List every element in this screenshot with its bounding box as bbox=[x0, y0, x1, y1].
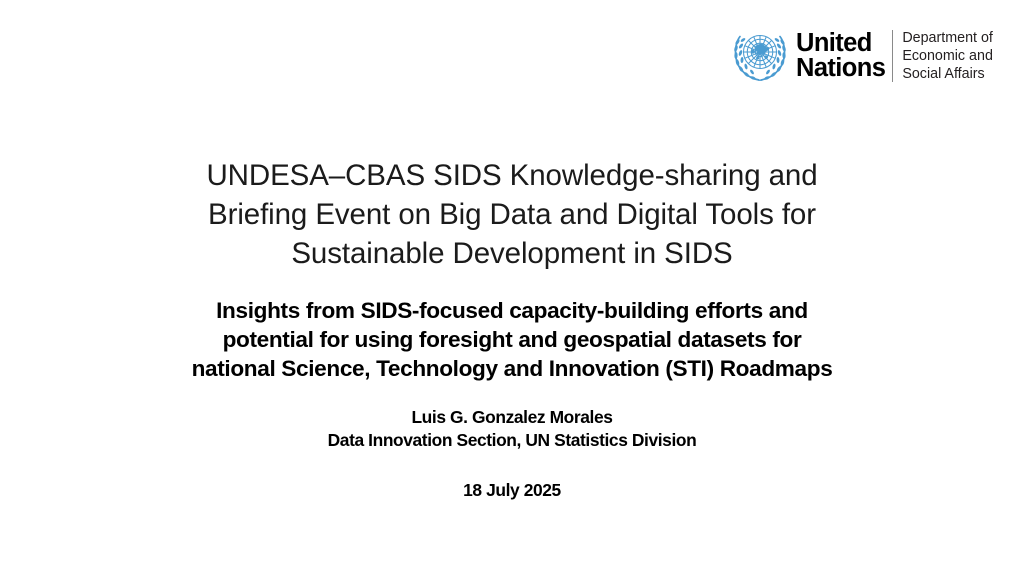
presenter-block: Luis G. Gonzalez Morales Data Innovation… bbox=[162, 406, 862, 502]
event-subtitle-line-3: national Science, Technology and Innovat… bbox=[92, 354, 932, 383]
event-title: UNDESA–CBAS SIDS Knowledge-sharing and B… bbox=[112, 156, 912, 274]
department-line-2: Economic and bbox=[902, 47, 993, 65]
logo-divider bbox=[892, 30, 893, 82]
title-slide: United Nations Department of Economic an… bbox=[0, 0, 1024, 576]
event-subtitle: Insights from SIDS-focused capacity-buil… bbox=[92, 296, 932, 384]
event-subtitle-line-2: potential for using foresight and geospa… bbox=[92, 325, 932, 354]
department-line-3: Social Affairs bbox=[902, 65, 993, 83]
presenter-name: Luis G. Gonzalez Morales bbox=[162, 406, 862, 429]
un-emblem-icon bbox=[730, 28, 790, 85]
event-title-line-2: Briefing Event on Big Data and Digital T… bbox=[112, 195, 912, 234]
un-wordmark: United Nations bbox=[796, 31, 885, 81]
event-title-line-3: Sustainable Development in SIDS bbox=[112, 234, 912, 273]
un-desa-logo-lockup: United Nations Department of Economic an… bbox=[730, 26, 993, 86]
department-line-1: Department of bbox=[902, 29, 993, 47]
un-wordmark-line-1: United bbox=[796, 31, 885, 56]
department-name: Department of Economic and Social Affair… bbox=[902, 29, 993, 84]
un-wordmark-line-2: Nations bbox=[796, 56, 885, 81]
event-subtitle-line-1: Insights from SIDS-focused capacity-buil… bbox=[92, 296, 932, 325]
event-title-line-1: UNDESA–CBAS SIDS Knowledge-sharing and bbox=[112, 156, 912, 195]
presenter-affiliation: Data Innovation Section, UN Statistics D… bbox=[162, 429, 862, 452]
presentation-date: 18 July 2025 bbox=[162, 479, 862, 502]
